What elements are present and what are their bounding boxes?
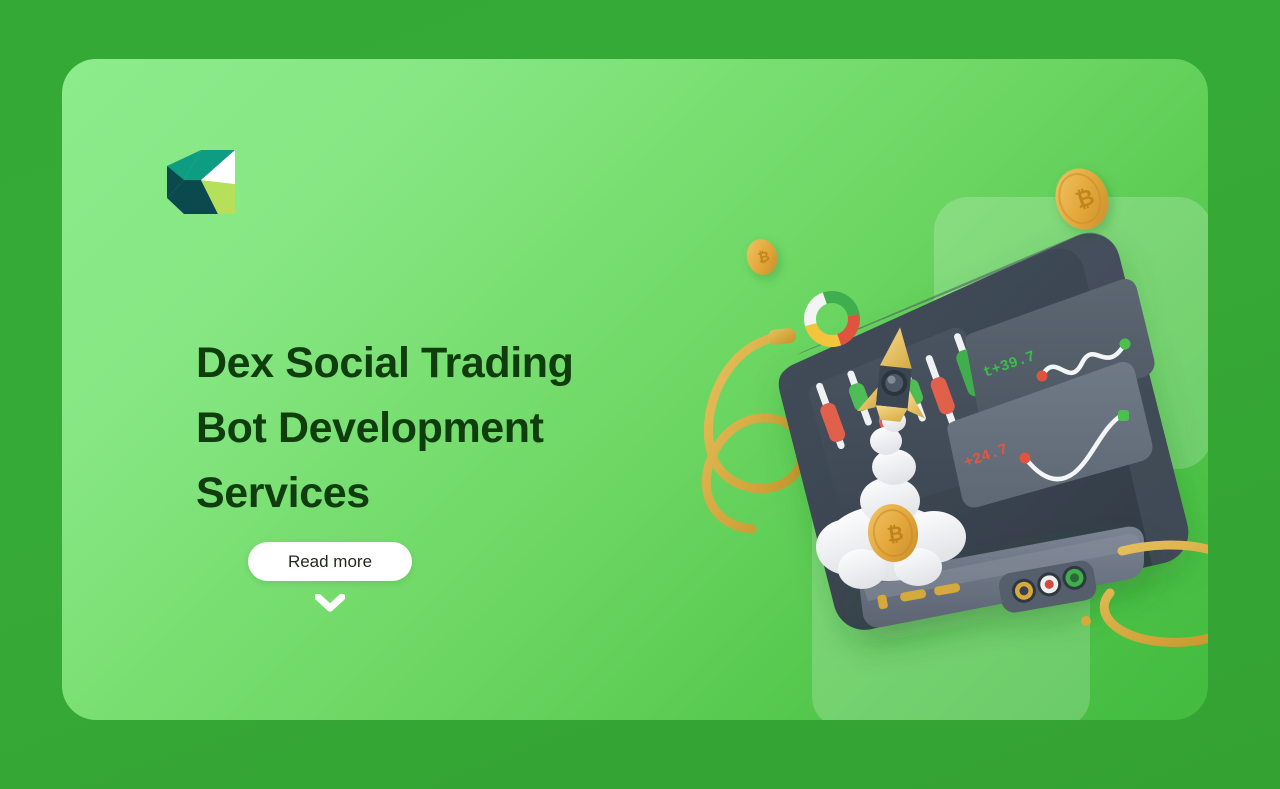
brand-logo[interactable]: [165, 148, 237, 216]
svg-text:₿: ₿: [886, 523, 905, 547]
cable-droplet: [1081, 616, 1091, 626]
bitcoin-coin-small: ₿: [743, 236, 781, 278]
donut-chart: [807, 294, 858, 345]
hero-card: t+39.7 +24.7 ₿: [62, 59, 1208, 720]
hero-copy: Dex Social Trading Bot Development Servi…: [196, 331, 676, 526]
read-more-button[interactable]: Read more: [248, 542, 412, 581]
page-root: t+39.7 +24.7 ₿: [0, 0, 1280, 789]
cable-connector: [767, 328, 796, 346]
hexagon-cube-logo: [165, 148, 237, 216]
chevron-down-icon[interactable]: [315, 594, 345, 612]
cta-group: Read more: [248, 542, 412, 612]
trading-bot-3d-illustration: t+39.7 +24.7 ₿: [682, 149, 1208, 720]
page-title: Dex Social Trading Bot Development Servi…: [196, 331, 676, 526]
gold-cable: [706, 337, 803, 529]
